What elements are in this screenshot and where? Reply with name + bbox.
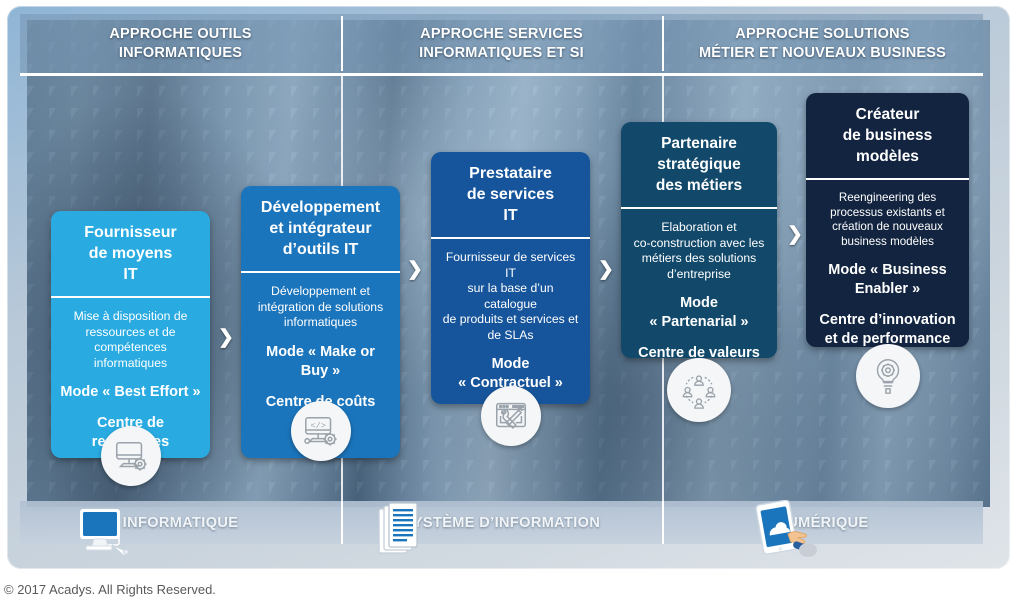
- card-description: Elaboration et co-construction avec les …: [630, 220, 768, 282]
- chevron-right-icon-2: ❯: [407, 260, 423, 279]
- card-body: Reengineering des processus existants et…: [806, 180, 969, 347]
- card-centre: Centre de valeurs: [630, 344, 768, 358]
- card-description: Fournisseur de services IT sur la base d…: [440, 250, 581, 343]
- card-description: Mise à disposition de ressources et de c…: [60, 309, 201, 371]
- tablet-touch-icon: [748, 500, 820, 560]
- card-partenaire-strategique-des-metiers[interactable]: Partenaire stratégique des métiers Elabo…: [621, 122, 777, 358]
- card-fournisseur-de-moyens-it[interactable]: Fournisseur de moyens IT Mise à disposit…: [51, 211, 210, 458]
- desktop-computer-icon: [74, 503, 146, 563]
- card-body: Elaboration et co-construction avec les …: [621, 209, 777, 358]
- card-mode: Mode « Partenarial »: [630, 294, 768, 332]
- header-approche-outils: APPROCHE OUTILS INFORMATIQUES: [20, 14, 341, 73]
- card-mode: Mode « Best Effort »: [60, 383, 201, 402]
- header-approche-services: APPROCHE SERVICES INFORMATIQUES ET SI: [341, 14, 662, 73]
- card-title: Développement et intégrateur d’outils IT: [241, 186, 400, 273]
- monitor-gear-icon: [101, 426, 161, 486]
- chevron-right-icon-4: ❯: [787, 225, 803, 244]
- chevron-right-icon-3: ❯: [598, 260, 614, 279]
- approach-header-band: APPROCHE OUTILS INFORMATIQUES APPROCHE S…: [20, 14, 983, 76]
- card-title: Prestataire de services IT: [431, 152, 590, 239]
- card-createur-de-business-modeles[interactable]: Créateur de business modèles Reengineeri…: [806, 93, 969, 347]
- svg-text:</>: </>: [311, 421, 326, 431]
- lightbulb-gear-icon: [856, 344, 920, 408]
- card-centre: Centre d’innovation et de performance: [815, 311, 960, 347]
- card-prestataire-de-services-it[interactable]: Prestataire de services IT Fournisseur d…: [431, 152, 590, 404]
- header-label: APPROCHE OUTILS INFORMATIQUES: [109, 25, 251, 63]
- chevron-right-icon-1: ❯: [218, 328, 234, 347]
- card-mode: Mode « Make or Buy »: [250, 343, 391, 381]
- documents-stack-icon: [375, 500, 447, 560]
- card-title: Partenaire stratégique des métiers: [621, 122, 777, 209]
- card-mode: Mode « Business Enabler »: [815, 261, 960, 299]
- header-approche-solutions: APPROCHE SOLUTIONS MÉTIER ET NOUVEAUX BU…: [662, 14, 983, 73]
- footer-informatique: INFORMATIQUE: [20, 501, 341, 544]
- browser-tools-icon: [481, 386, 541, 446]
- card-title: Fournisseur de moyens IT: [51, 211, 210, 298]
- header-label: APPROCHE SOLUTIONS MÉTIER ET NOUVEAUX BU…: [699, 25, 946, 63]
- card-body: Fournisseur de services IT sur la base d…: [431, 239, 590, 404]
- code-monitor-gear-icon: </>: [291, 401, 351, 461]
- people-network-icon: [667, 358, 731, 422]
- infographic-root: APPROCHE OUTILS INFORMATIQUES APPROCHE S…: [0, 0, 1017, 605]
- card-description: Développement et intégration de solution…: [250, 284, 391, 331]
- card-title: Créateur de business modèles: [806, 93, 969, 180]
- card-description: Reengineering des processus existants et…: [815, 191, 960, 249]
- domain-footer-band: INFORMATIQUE SYSTÈME D’INFORMATION NUMÉR…: [20, 501, 983, 544]
- header-label: APPROCHE SERVICES INFORMATIQUES ET SI: [419, 25, 584, 63]
- copyright-text: © 2017 Acadys. All Rights Reserved.: [4, 582, 216, 597]
